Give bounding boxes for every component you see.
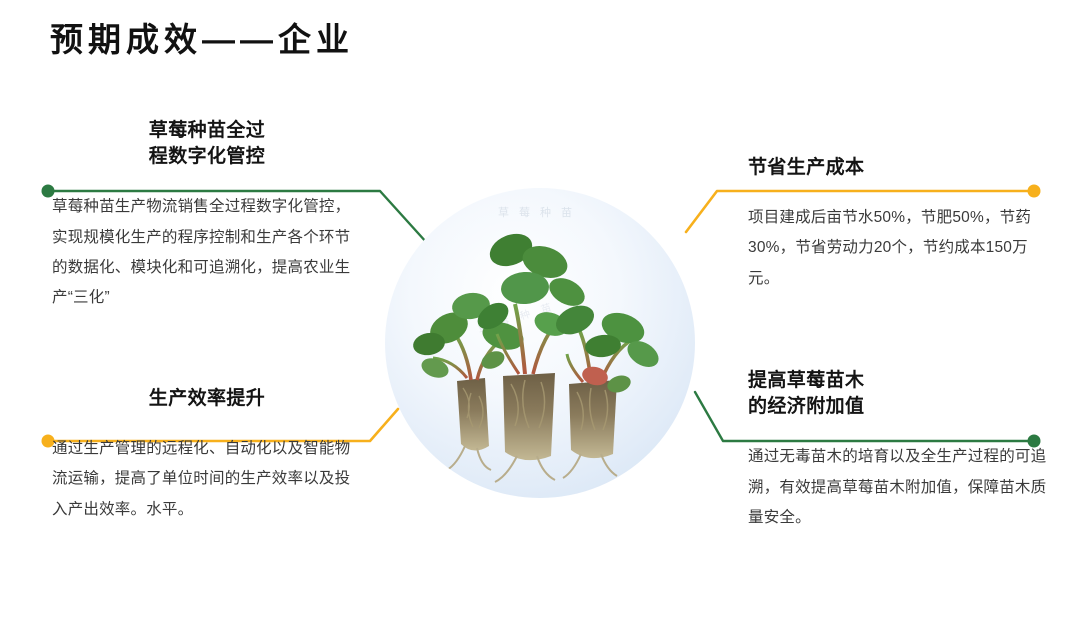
- feature-title-bottom-right-line2: 的经济附加值: [748, 394, 1048, 420]
- seedling-right: [551, 300, 663, 478]
- feature-body-bottom-left: 通过生产管理的远程化、自动化以及智能物流运输，提高了单位时间的生产效率以及投入产…: [52, 434, 352, 525]
- feature-block-top-right: 节省生产成本 项目建成后亩节水50%，节肥50%，节药30%，节省劳动力20个，…: [748, 155, 1048, 294]
- feature-body-top-left: 草莓种苗生产物流销售全过程数字化管控，实现规模化生产的程序控制和生产各个环节的数…: [52, 192, 352, 313]
- feature-title-bottom-left: 生产效率提升: [52, 386, 352, 412]
- feature-title-bottom-left-line1: 生产效率提升: [62, 386, 352, 412]
- feature-title-top-right: 节省生产成本: [748, 155, 1048, 181]
- slide-root: 预期成效——企业 草莓种苗 草莓种苗: [0, 0, 1080, 624]
- feature-title-top-left: 草莓种苗全过 程数字化管控: [52, 118, 352, 170]
- feature-body-top-right: 项目建成后亩节水50%，节肥50%，节药30%，节省劳动力20个，节约成本150…: [748, 203, 1048, 294]
- feature-block-bottom-right: 提高草莓苗木 的经济附加值 通过无毒苗木的培育以及全生产过程的可追溯，有效提高草…: [748, 368, 1048, 533]
- feature-block-top-left: 草莓种苗全过 程数字化管控 草莓种苗生产物流销售全过程数字化管控，实现规模化生产…: [52, 118, 352, 313]
- feature-title-top-left-line1: 草莓种苗全过: [62, 118, 352, 144]
- feature-block-bottom-left: 生产效率提升 通过生产管理的远程化、自动化以及智能物流运输，提高了单位时间的生产…: [52, 386, 352, 525]
- photo-inner: 草莓种苗 草莓种苗: [385, 188, 695, 498]
- seedling-illustration: [385, 188, 695, 498]
- feature-title-bottom-right-line1: 提高草莓苗木: [748, 368, 1048, 394]
- feature-title-top-right-line1: 节省生产成本: [748, 155, 1048, 181]
- feature-title-bottom-right: 提高草莓苗木 的经济附加值: [748, 368, 1048, 420]
- strawberry-seedlings-photo: 草莓种苗 草莓种苗: [385, 188, 695, 498]
- page-title: 预期成效——企业: [50, 20, 354, 60]
- feature-body-bottom-right: 通过无毒苗木的培育以及全生产过程的可追溯，有效提高草莓苗木附加值，保障苗木质量安…: [748, 442, 1048, 533]
- feature-title-top-left-line2: 程数字化管控: [62, 144, 352, 170]
